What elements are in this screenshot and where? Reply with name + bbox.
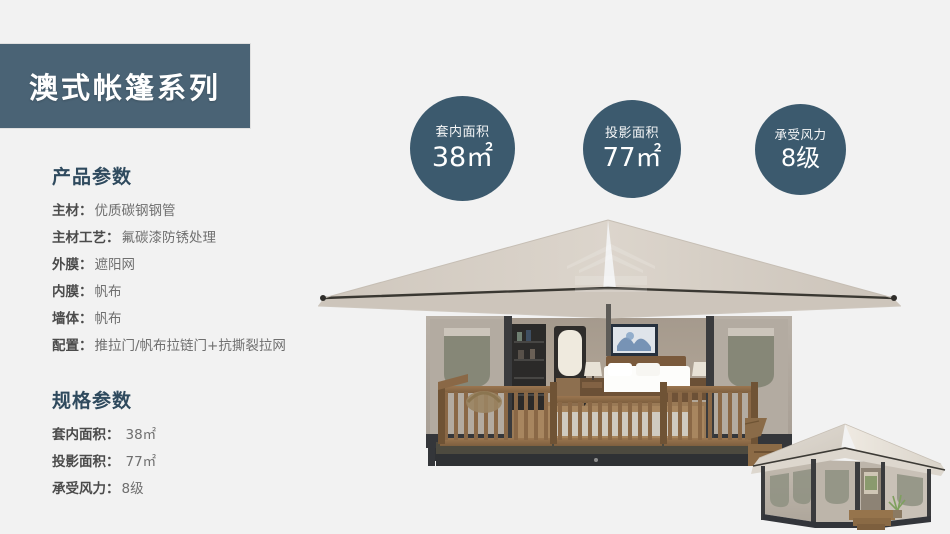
badge-value: 8级 — [781, 146, 820, 170]
badge-label: 套内面积 — [435, 126, 489, 139]
badge-projected-area: 投影面积 77㎡ — [583, 100, 681, 198]
spec-value: 帆布 — [93, 306, 122, 333]
spec-row: 配置： 推拉门/帆布拉链门+抗撕裂拉网 — [52, 333, 352, 360]
badge-label: 承受风力 — [774, 129, 826, 142]
spec-key: 投影面积： — [52, 449, 120, 476]
spec-key: 主材工艺： — [52, 225, 120, 252]
spec-row: 内膜： 帆布 — [52, 279, 352, 306]
spec-row: 承受风力： 8级 — [52, 476, 352, 503]
spec-value: 推拉门/帆布拉链门+抗撕裂拉网 — [93, 333, 286, 360]
spec-key: 内膜： — [52, 279, 93, 306]
product-spec-page: 澳式帐篷系列 产品参数 主材： 优质碳钢钢管 主材工艺： 氟碳漆防锈处理 外膜：… — [0, 0, 950, 534]
spec-row: 套内面积： 38㎡ — [52, 422, 352, 449]
spec-key: 外膜： — [52, 252, 93, 279]
spec-row: 投影面积： 77㎡ — [52, 449, 352, 476]
badge-group: 套内面积 38㎡ 投影面积 77㎡ 承受风力 8级 — [0, 0, 950, 215]
badge-value: 77㎡ — [602, 145, 661, 171]
spec-value: 帆布 — [93, 279, 122, 306]
section-heading-specification: 规格参数 — [52, 386, 352, 413]
secondary-tent-illustration — [745, 418, 950, 534]
spec-row: 墙体： 帆布 — [52, 306, 352, 333]
badge-wind-resistance: 承受风力 8级 — [755, 104, 846, 195]
spec-value: 77㎡ — [120, 449, 157, 476]
badge-interior-area: 套内面积 38㎡ — [410, 96, 515, 201]
spec-value: 遮阳网 — [93, 252, 136, 279]
spec-key: 套内面积： — [52, 422, 120, 449]
badge-value: 38㎡ — [432, 144, 493, 171]
spec-key: 墙体： — [52, 306, 93, 333]
spec-value: 38㎡ — [120, 422, 157, 449]
spec-key: 承受风力： — [52, 476, 120, 503]
spec-row: 主材工艺： 氟碳漆防锈处理 — [52, 225, 352, 252]
spec-value: 8级 — [120, 476, 144, 503]
spec-key: 配置： — [52, 333, 93, 360]
spec-value: 氟碳漆防锈处理 — [120, 225, 217, 252]
spec-row: 外膜： 遮阳网 — [52, 252, 352, 279]
badge-label: 投影面积 — [605, 127, 659, 140]
